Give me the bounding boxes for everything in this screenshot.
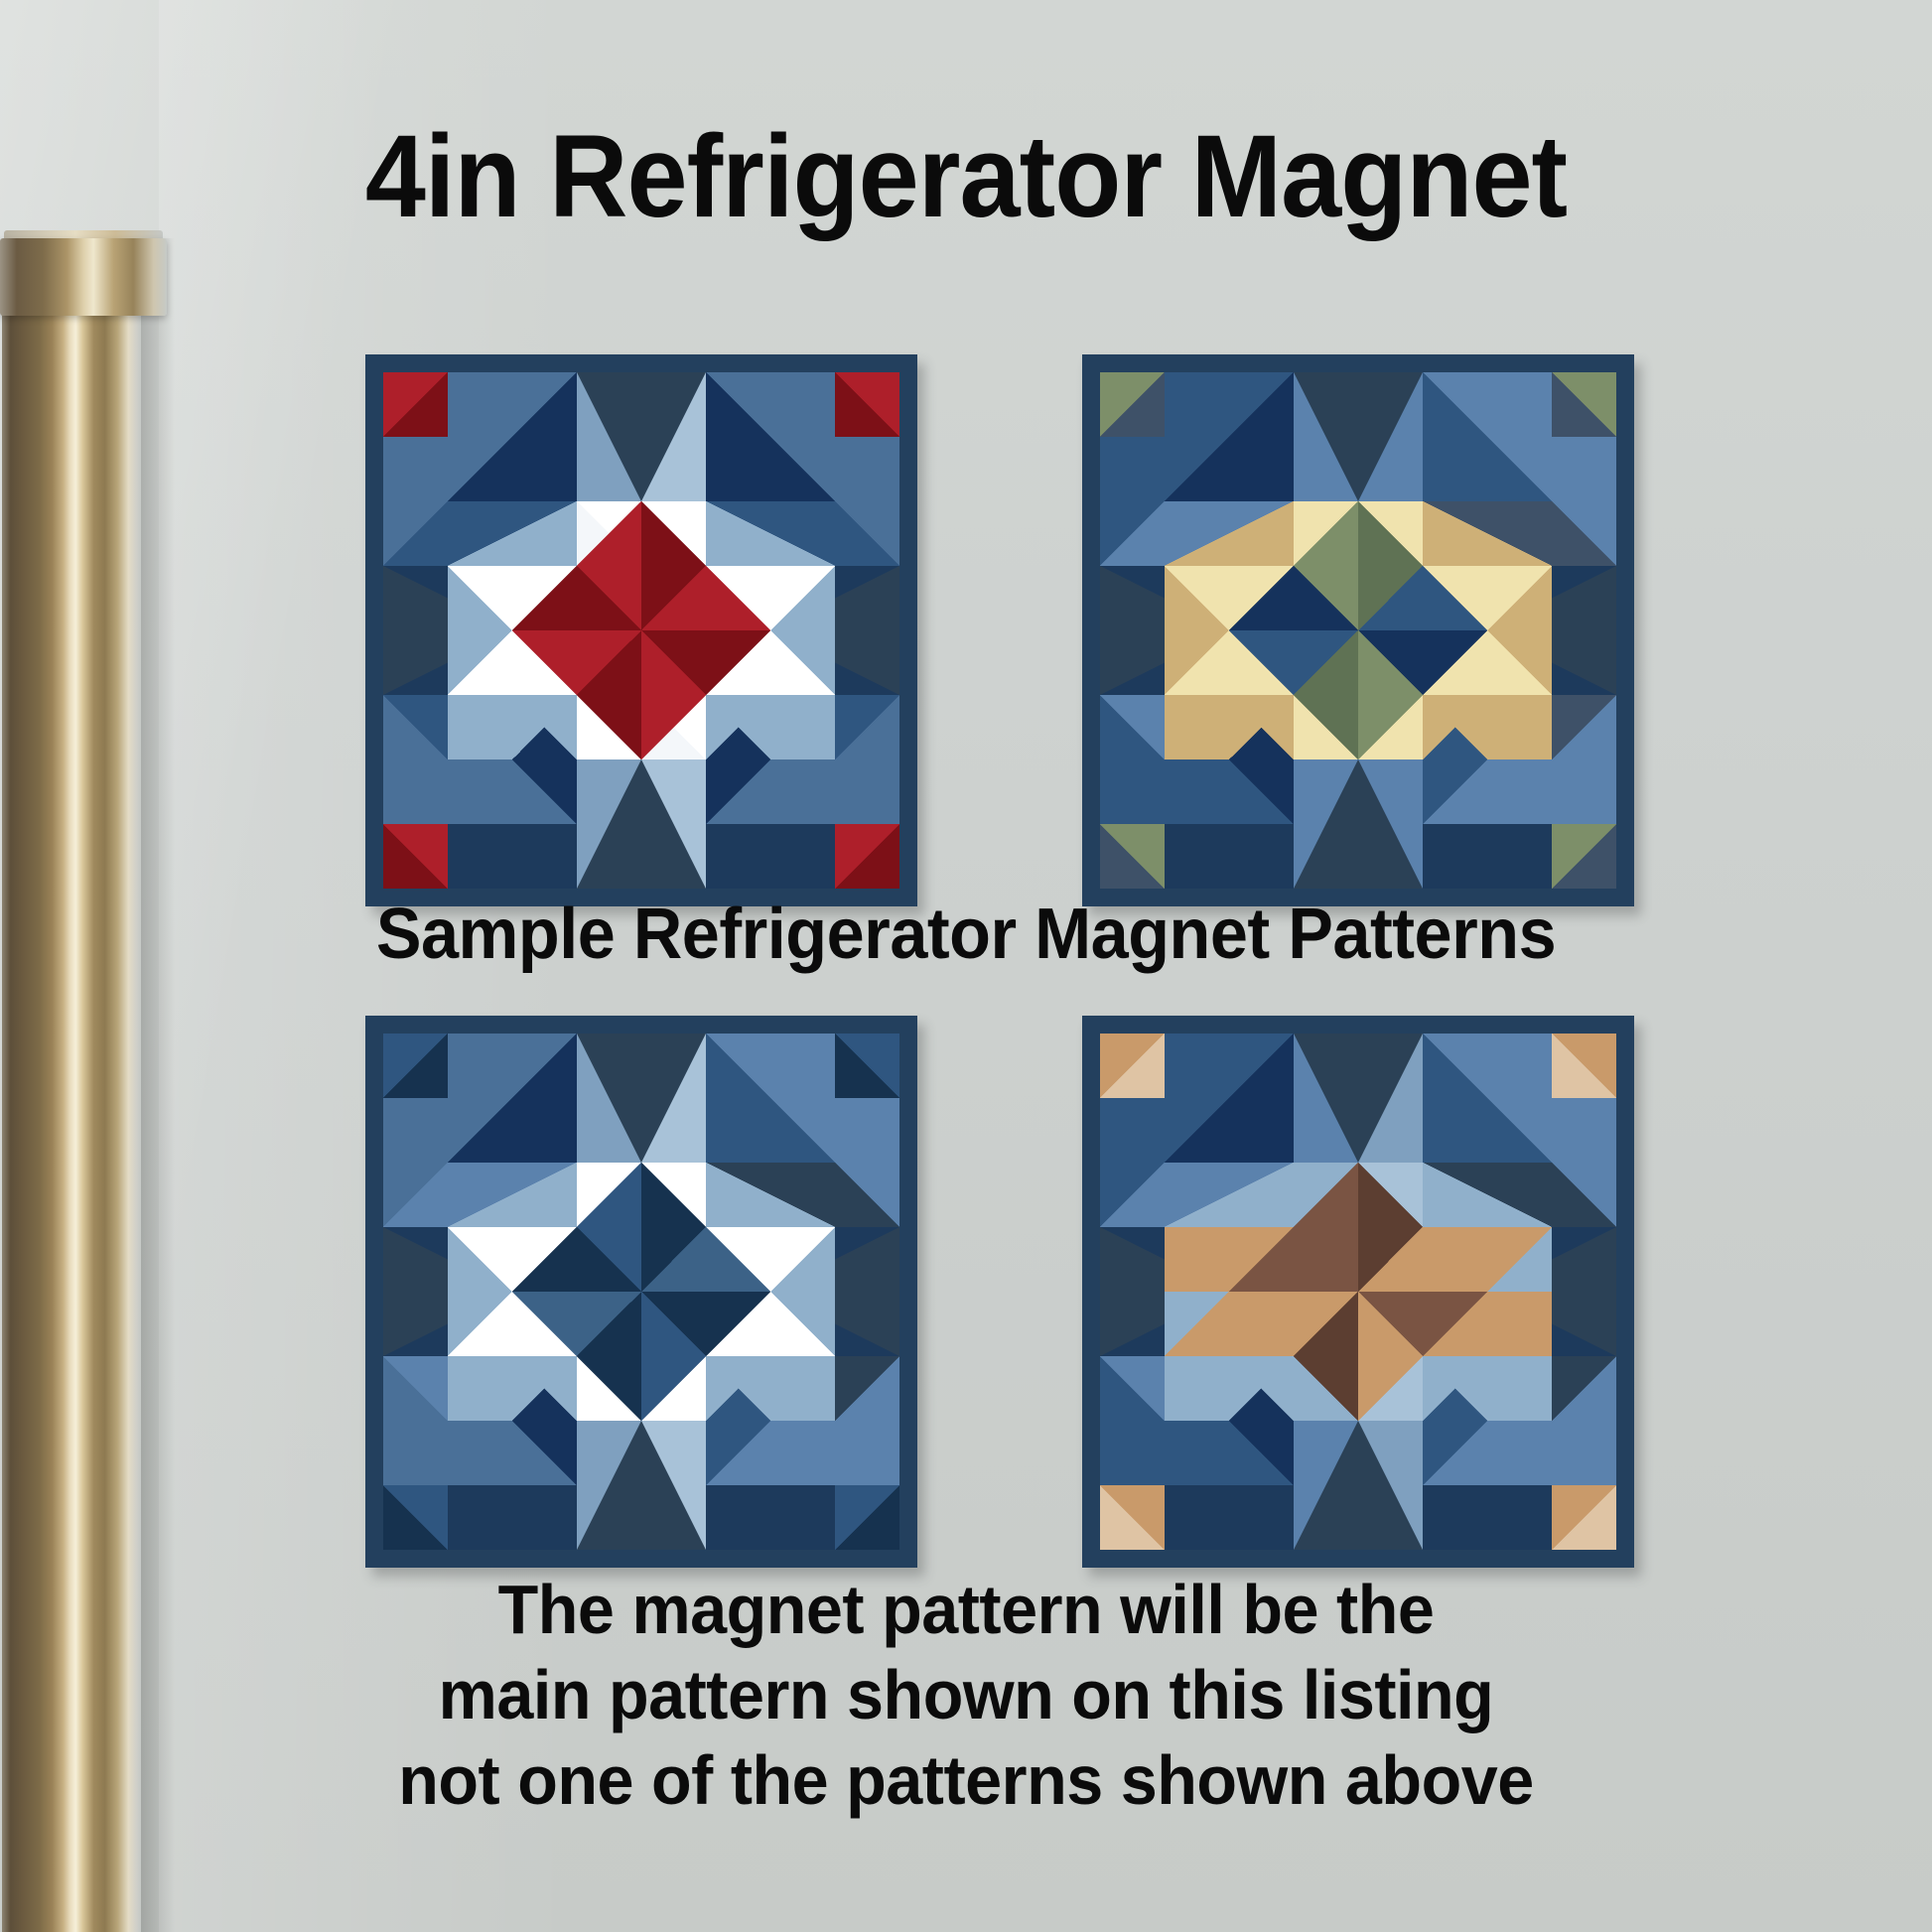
handle-bracket xyxy=(0,238,167,316)
sample-pattern-tile-1[interactable] xyxy=(365,354,917,906)
disclaimer-line-3: not one of the patterns shown above xyxy=(49,1737,1884,1823)
sample-pattern-tile-3[interactable] xyxy=(365,1016,917,1568)
disclaimer-line-2: main pattern shown on this listing xyxy=(49,1652,1884,1737)
page-title: 4in Refrigerator Magnet xyxy=(68,109,1864,244)
disclaimer-text: The magnet pattern will be the main patt… xyxy=(0,1567,1932,1823)
mid-caption: Sample Refrigerator Magnet Patterns xyxy=(49,894,1884,975)
sample-pattern-tile-4[interactable] xyxy=(1082,1016,1634,1568)
product-listing-image: 4in Refrigerator Magnet xyxy=(0,0,1932,1932)
sample-pattern-tile-2[interactable] xyxy=(1082,354,1634,906)
disclaimer-line-1: The magnet pattern will be the xyxy=(49,1567,1884,1652)
